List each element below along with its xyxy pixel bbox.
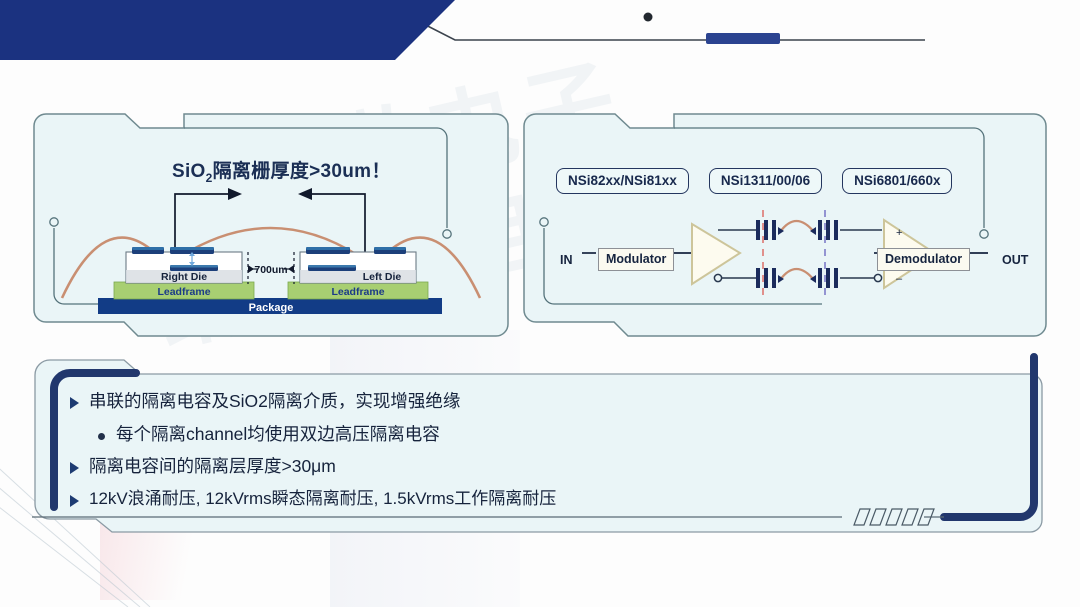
- sio2-caption-subscript: 2: [206, 171, 213, 185]
- bullet-row-3: 隔离电容间的隔离层厚度>30μm: [70, 455, 1000, 479]
- header-blue-bar: [706, 33, 780, 44]
- part-number-chip-1[interactable]: NSi82xx/NSi81xx: [556, 168, 689, 194]
- input-label: IN: [560, 253, 573, 267]
- bullet-text-4: 12kV浪涌耐压, 12kVrms瞬态隔离耐压, 1.5kVrms工作隔离耐压: [89, 488, 556, 511]
- amp-plus-sign: +: [896, 227, 902, 239]
- sio2-caption-rest: 隔离栅厚度>30um！: [213, 161, 391, 182]
- right-card: + – ⊓: [522, 112, 1048, 338]
- left-card: Right Die Left Die Leadframe Leadframe P…: [32, 112, 510, 338]
- left-die-label: Left Die: [363, 271, 402, 283]
- dimension-arrow-left: [298, 188, 312, 200]
- trace-dot: [644, 13, 653, 22]
- leadframe-right-label: Leadframe: [331, 286, 384, 298]
- bullet-row-1: 串联的隔离电容及SiO2隔离介质，实现增强绝缘: [70, 390, 1000, 414]
- part-number-chip-3[interactable]: NSi6801/660x: [842, 168, 952, 194]
- sio2-thickness-caption: SiO2隔离栅厚度>30um！: [172, 156, 391, 185]
- triangle-bullet-icon: [70, 462, 79, 474]
- bullet-text-3: 隔离电容间的隔离层厚度>30μm: [89, 455, 336, 479]
- modulator-block: Modulator: [598, 248, 674, 271]
- part-number-chip-2[interactable]: NSi1311/00/06: [709, 168, 822, 194]
- dimension-arrow-right: [228, 188, 242, 200]
- gap-dimension-label: 700um: [254, 264, 287, 276]
- triangle-bullet-icon: [70, 495, 79, 507]
- bullet-row-2: 每个隔离channel均使用双边高压隔离电容: [98, 423, 1000, 447]
- triangle-bullet-icon: [70, 397, 79, 409]
- demodulator-block: Demodulator: [877, 248, 970, 271]
- isolation-block-diagram: + – ⊓: [522, 112, 1048, 338]
- leadframe-left-label: Leadframe: [157, 286, 210, 298]
- bullet-text-2: 每个隔离channel均使用双边高压隔离电容: [116, 423, 440, 447]
- bullet-text-1: 串联的隔离电容及SiO2隔离介质，实现增强绝缘: [89, 390, 460, 414]
- right-die-label: Right Die: [161, 271, 207, 283]
- output-label: OUT: [1002, 253, 1028, 267]
- bullet-row-4: 12kV浪涌耐压, 12kVrms瞬态隔离耐压, 1.5kVrms工作隔离耐压: [70, 488, 1000, 511]
- sio2-caption-prefix: SiO: [172, 161, 206, 182]
- dot-bullet-icon: [98, 433, 105, 440]
- title-banner: [0, 0, 455, 60]
- amp-minus-sign: –: [896, 273, 903, 285]
- part-number-chip-row: NSi82xx/NSi81xx NSi1311/00/06 NSi6801/66…: [556, 168, 952, 194]
- package-label: Package: [249, 302, 294, 314]
- cross-section-illustration: Right Die Left Die Leadframe Leadframe P…: [32, 112, 510, 338]
- feature-bullet-list: 串联的隔离电容及SiO2隔离介质，实现增强绝缘 每个隔离channel均使用双边…: [70, 390, 1000, 520]
